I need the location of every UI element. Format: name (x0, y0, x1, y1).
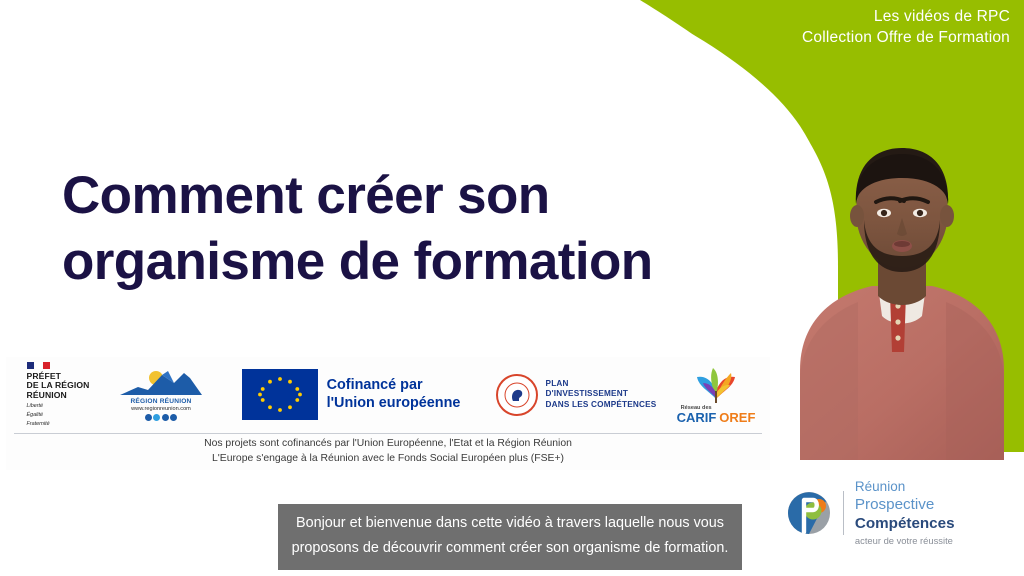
twitter-icon (153, 414, 160, 421)
logo-plan-investissement-competences: PLAN D'INVESTISSEMENT DANS LES COMPÉTENC… (486, 357, 666, 432)
header-line-2: Collection Offre de Formation (802, 27, 1010, 48)
rpc-mark-icon (786, 490, 832, 536)
region-name: RÉGION RÉUNION (130, 398, 191, 405)
logo-region-reunion: RÉGION RÉUNION www.regionreunion.com (106, 357, 216, 432)
presenter-video-person (780, 120, 1024, 460)
header-line-1: Les vidéos de RPC (802, 6, 1010, 27)
rpc-competences: Compétences (855, 515, 955, 532)
logo-european-union: Cofinancé par l'Union européenne (216, 357, 486, 432)
page-title: Comment créer son organisme de formation (62, 163, 653, 295)
youtube-icon (170, 414, 177, 421)
logo-row: PRÉFET DE LA RÉGION RÉUNION Liberté Égal… (6, 357, 770, 432)
footnote-line-1: Nos projets sont cofinancés par l'Union … (6, 437, 770, 452)
header-text: Les vidéos de RPC Collection Offre de Fo… (802, 6, 1010, 48)
subtitle-caption: Bonjour et bienvenue dans cette vidéo à … (278, 504, 742, 570)
eu-text-line-2: l'Union européenne (327, 395, 461, 413)
instagram-icon (162, 414, 169, 421)
reunion-mountain-icon (118, 369, 204, 397)
french-flag-icon (27, 362, 90, 369)
logo-prefet-region-reunion: PRÉFET DE LA RÉGION RÉUNION Liberté Égal… (6, 357, 106, 432)
region-url: www.regionreunion.com (131, 406, 191, 412)
logo-carif-oref: Réseau des CARIF OREF (666, 357, 766, 432)
region-social-icons (145, 414, 178, 421)
caption-line-2: proposons de découvrir comment créer son… (288, 536, 732, 561)
rpc-separator (843, 491, 844, 535)
rpc-line-1: Réunion (855, 478, 1024, 495)
rpc-tagline: acteur de votre réussite (855, 534, 1024, 547)
pic-line-3: DANS LES COMPÉTENCES (546, 400, 657, 410)
logo-reunion-prospective-competences: Réunion Prospective Compétences acteur d… (786, 478, 1024, 547)
rpc-prospective: Prospective (855, 496, 934, 513)
facebook-icon (145, 414, 152, 421)
partner-logo-bar: PRÉFET DE LA RÉGION RÉUNION Liberté Égal… (6, 357, 770, 470)
title-line-1: Comment créer son (62, 163, 653, 229)
video-slide: Les vidéos de RPC Collection Offre de Fo… (0, 0, 1024, 576)
logo-bar-divider (14, 433, 762, 434)
motto-liberte: Liberté (27, 403, 90, 409)
motto-egalite: Égalité (27, 412, 90, 418)
eu-flag-icon (242, 369, 318, 420)
rpc-line-2: Prospective Compétences (855, 495, 1024, 533)
pic-seal-icon (496, 374, 538, 416)
pic-line-1: PLAN (546, 379, 657, 389)
prefet-line-3: RÉUNION (27, 391, 90, 401)
carif-label: CARIF (677, 411, 717, 425)
caption-line-1: Bonjour et bienvenue dans cette vidéo à … (288, 511, 732, 536)
funding-footnote: Nos projets sont cofinancés par l'Union … (6, 437, 770, 466)
motto-fraternite: Fraternité (27, 421, 90, 427)
title-line-2: organisme de formation (62, 229, 653, 295)
oref-label: OREF (719, 411, 755, 425)
eu-text-line-1: Cofinancé par (327, 377, 461, 395)
carif-butterfly-icon (685, 365, 747, 405)
pic-line-2: D'INVESTISSEMENT (546, 389, 657, 399)
footnote-line-2: L'Europe s'engage à la Réunion avec le F… (6, 452, 770, 467)
